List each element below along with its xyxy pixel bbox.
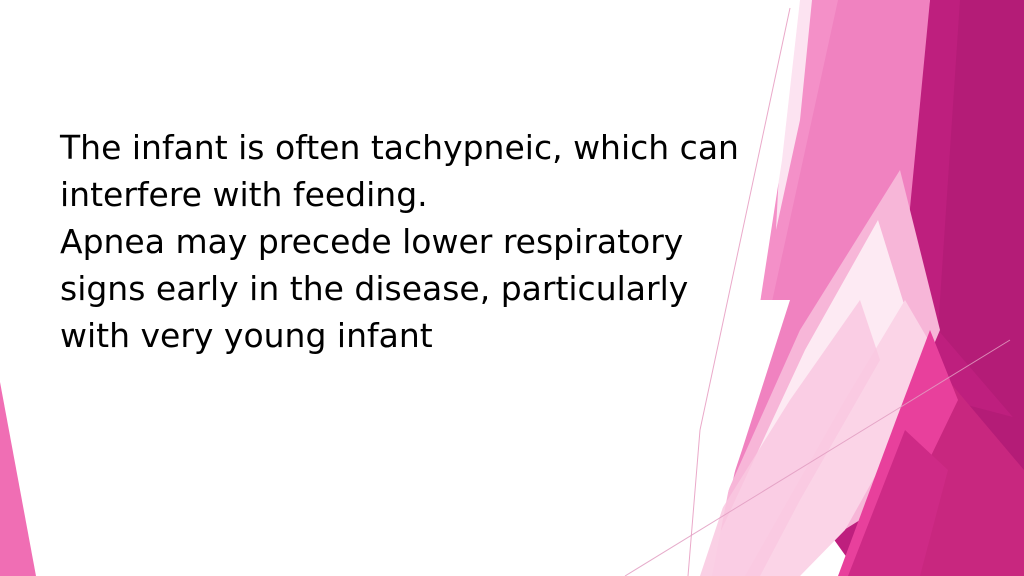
facet-bright-magenta-lower [880,380,1024,576]
facet-deep-magenta-base [820,0,1024,576]
facet-magenta-shadow-lower [905,400,1024,576]
facet-light-pink-band [735,0,930,576]
facet-magenta-shadow [938,0,1024,430]
facet-pale-wedge-upper [776,0,812,230]
hairline-diagonal-long [625,340,1010,576]
facet-bottom-left-triangle [0,382,36,576]
hairline-diagonal-lower [688,430,700,576]
slide-body-text: The infant is often tachypneic, which ca… [60,124,750,359]
facet-paler-pink [745,300,940,576]
slide-canvas: The infant is often tachypneic, which ca… [0,0,1024,576]
facet-bright-pink-accent [838,330,958,576]
facet-magenta-mid-accent [848,430,948,576]
